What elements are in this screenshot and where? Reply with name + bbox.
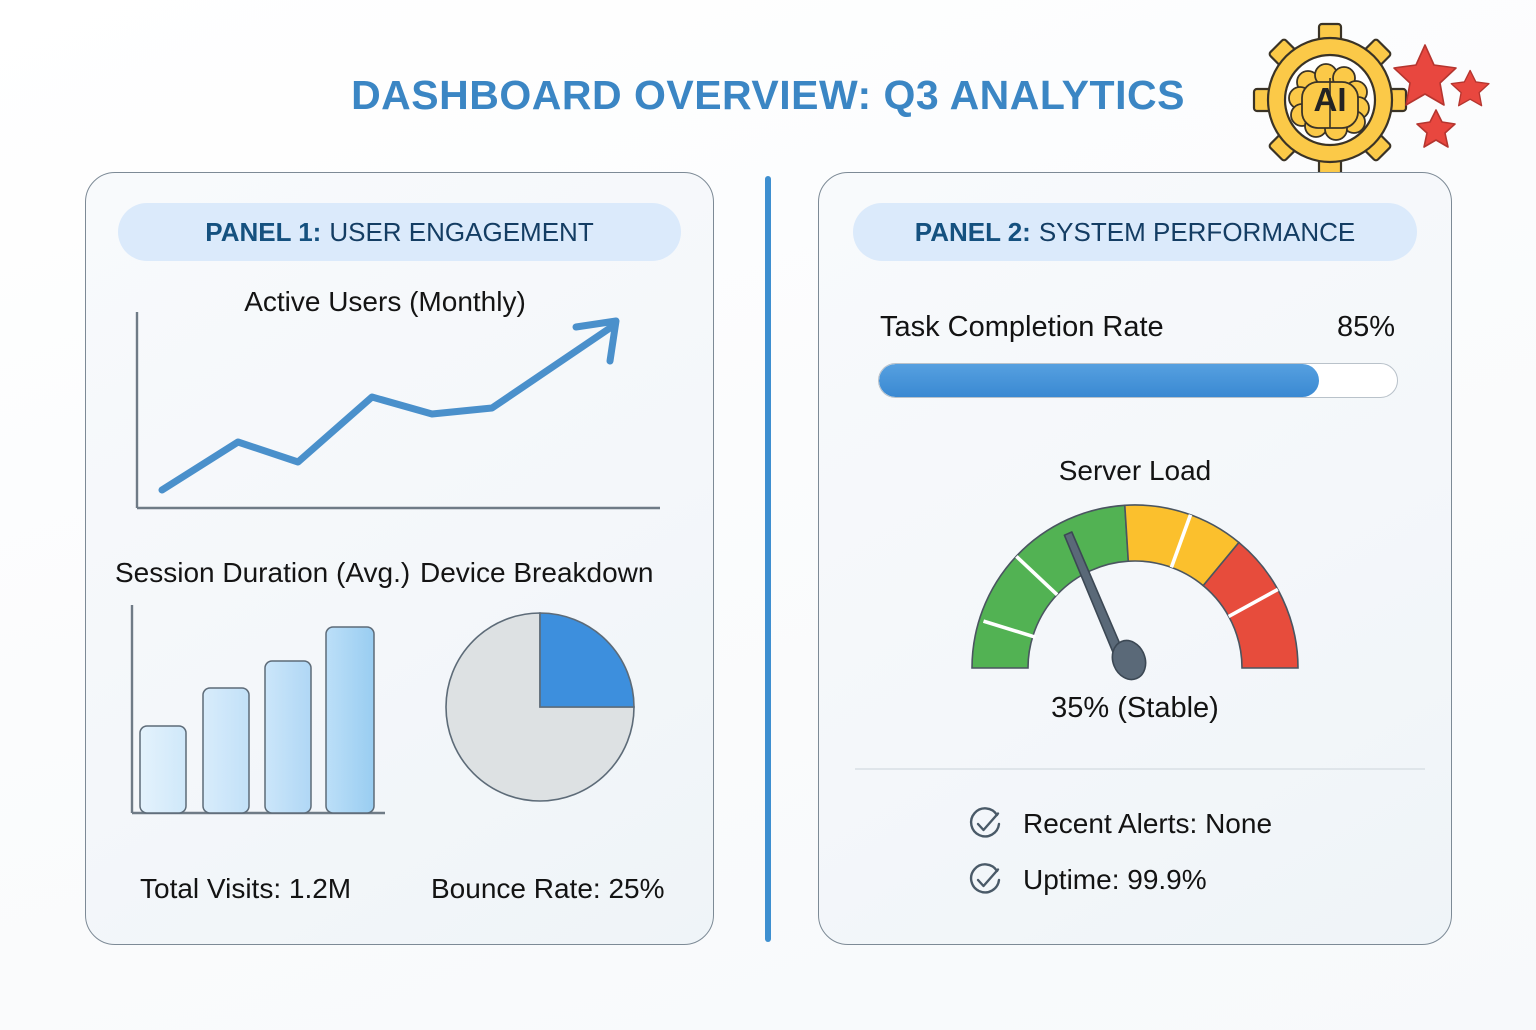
task-completion-label: Task Completion Rate	[880, 311, 1164, 344]
task-completion-value: 85%	[1337, 311, 1395, 344]
gauge-title: Server Load	[818, 455, 1452, 487]
bar	[326, 627, 374, 813]
panel-divider	[765, 176, 771, 942]
dashboard-canvas: DASHBOARD OVERVIEW: Q3 ANALYTICS	[0, 0, 1536, 1030]
ai-badge-label: AI	[1314, 81, 1347, 118]
bar-chart-title: Session Duration (Avg.)	[115, 557, 410, 589]
session-duration-bar-chart	[110, 595, 400, 825]
stat-total-visits: Total Visits: 1.2M	[140, 873, 351, 905]
bar	[203, 688, 249, 813]
panel-2-header-rest: SYSTEM PERFORMANCE	[1039, 217, 1355, 248]
star-icon	[1451, 70, 1489, 105]
check-circle-icon	[967, 862, 1003, 898]
ai-badge: AI	[1252, 18, 1532, 178]
panel-2-header: PANEL 2: SYSTEM PERFORMANCE	[853, 203, 1417, 261]
device-breakdown-pie-chart	[420, 595, 660, 825]
panel-1-header-rest: USER ENGAGEMENT	[329, 217, 593, 248]
star-icon	[1417, 110, 1455, 147]
bar	[140, 726, 186, 813]
server-load-gauge	[962, 495, 1308, 681]
panel-1-header: PANEL 1: USER ENGAGEMENT	[118, 203, 681, 261]
check-circle-icon	[967, 806, 1003, 842]
gauge-value-label: 35% (Stable)	[818, 692, 1452, 725]
task-completion-progress-bar[interactable]	[878, 363, 1398, 398]
panel-2-divider	[855, 768, 1425, 770]
pie-slice-mobile	[540, 613, 634, 707]
status-uptime: Uptime: 99.9%	[967, 862, 1207, 898]
ai-gear-brain-icon: AI	[1252, 18, 1532, 178]
bar	[265, 661, 311, 813]
active-users-line-chart	[110, 300, 680, 525]
task-completion-row: Task Completion Rate 85%	[880, 311, 1395, 344]
panel-2-header-strong: PANEL 2:	[915, 217, 1031, 248]
pie-chart-title: Device Breakdown	[420, 557, 653, 589]
line-chart-series	[162, 328, 610, 490]
status-uptime-label: Uptime: 99.9%	[1023, 864, 1207, 896]
status-recent-alerts: Recent Alerts: None	[967, 806, 1272, 842]
status-recent-alerts-label: Recent Alerts: None	[1023, 808, 1272, 840]
stat-bounce-rate: Bounce Rate: 25%	[431, 873, 665, 905]
panel-1-header-strong: PANEL 1:	[205, 217, 321, 248]
progress-bar-fill	[879, 364, 1319, 397]
